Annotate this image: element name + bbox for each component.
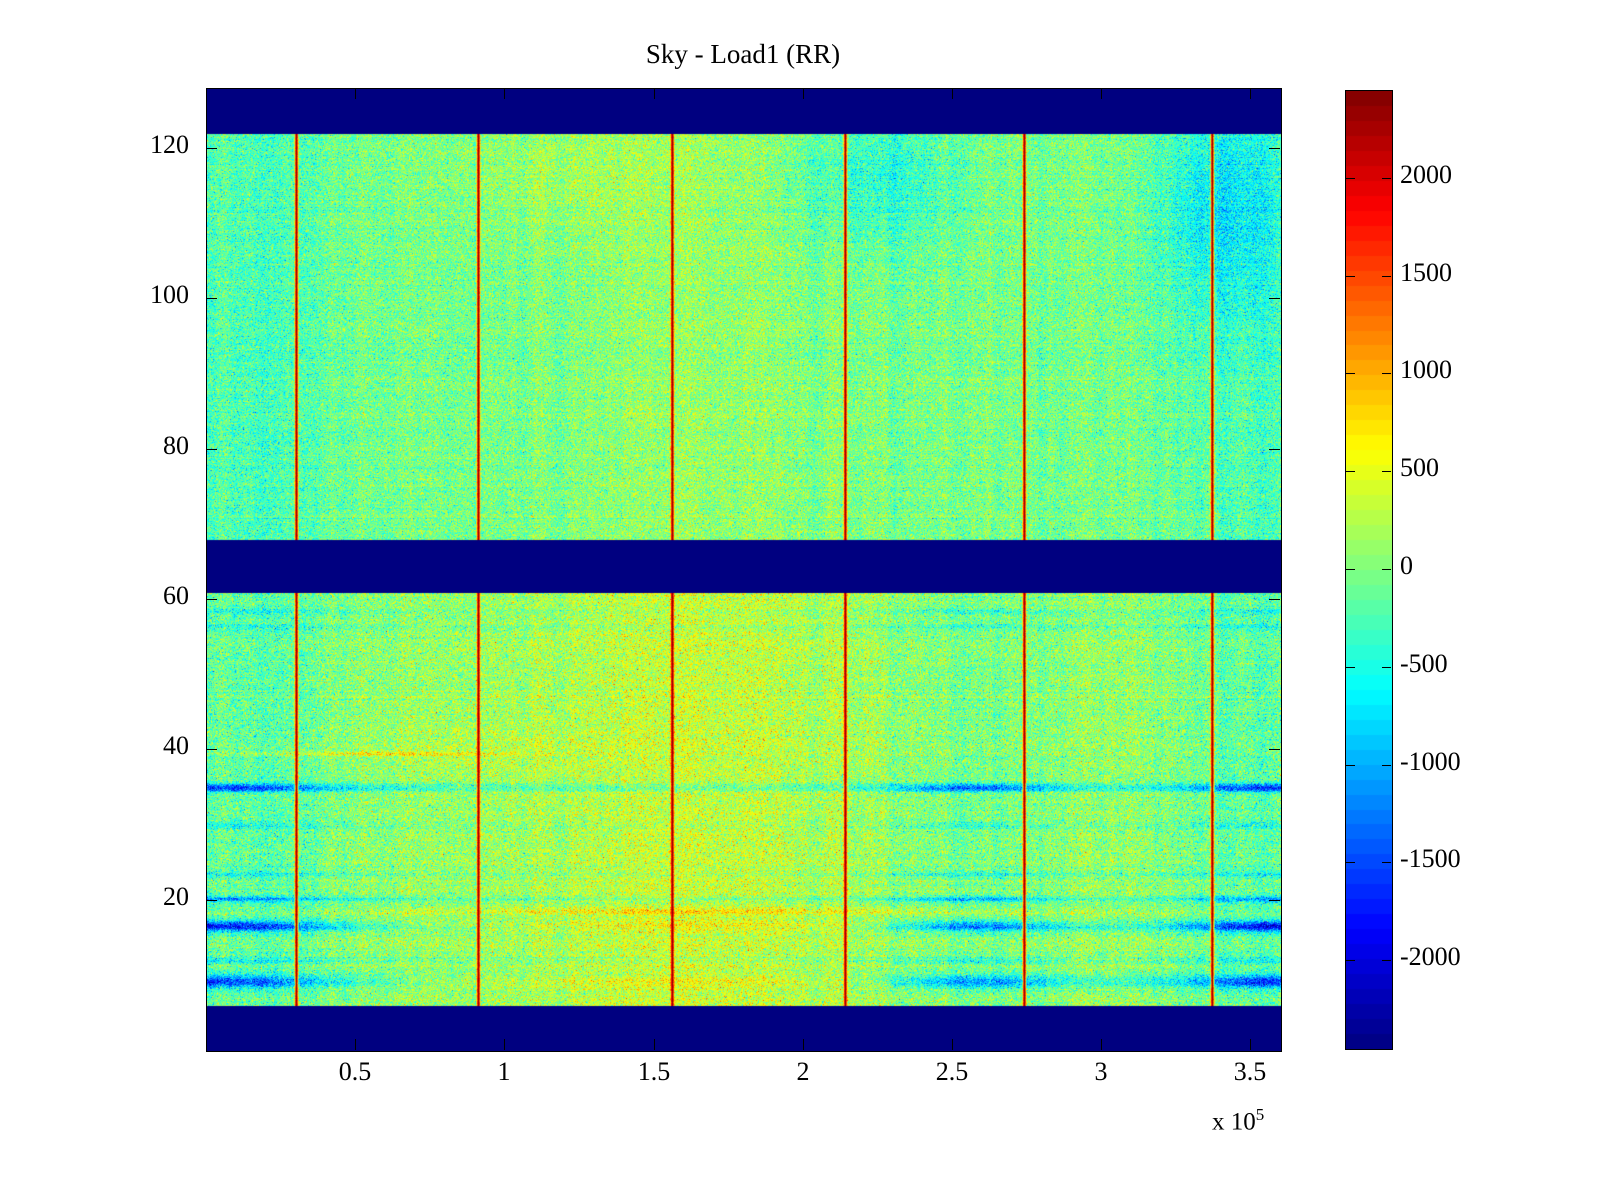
y-tick-mark	[206, 298, 217, 299]
y-tick-mark	[206, 900, 217, 901]
x-tick-label: 3.5	[1234, 1057, 1267, 1087]
colorbar-tick-mark-right	[1382, 373, 1391, 374]
colorbar-tick-label: -2000	[1400, 942, 1461, 972]
colorbar-tick-label: -500	[1400, 649, 1448, 679]
y-tick-mark-right	[1269, 148, 1280, 149]
heatmap-image	[207, 89, 1281, 1051]
y-tick-mark-right	[1269, 298, 1280, 299]
y-tick-label: 20	[163, 882, 189, 912]
colorbar-tick-mark	[1346, 373, 1355, 374]
colorbar-tick-mark-right	[1382, 960, 1391, 961]
x-tick-mark-top	[952, 88, 953, 99]
colorbar-tick-mark	[1346, 960, 1355, 961]
x-tick-mark-top	[803, 88, 804, 99]
y-tick-mark-right	[1269, 749, 1280, 750]
x-exponent-mantissa: x 10	[1212, 1108, 1256, 1135]
colorbar-tick-mark-right	[1382, 276, 1391, 277]
x-exponent-power: 5	[1256, 1105, 1265, 1124]
y-tick-mark-right	[1269, 599, 1280, 600]
x-tick-label: 1	[498, 1057, 511, 1087]
y-tick-label: 80	[163, 431, 189, 461]
x-tick-mark-top	[1250, 88, 1251, 99]
y-tick-mark	[206, 599, 217, 600]
x-tick-mark-top	[504, 88, 505, 99]
y-tick-mark	[206, 148, 217, 149]
colorbar-tick-mark-right	[1382, 862, 1391, 863]
x-tick-mark-top	[355, 88, 356, 99]
x-axis-exponent-label: x 105	[1212, 1105, 1264, 1136]
heatmap-axes[interactable]	[206, 88, 1282, 1052]
colorbar[interactable]	[1345, 90, 1393, 1050]
y-tick-mark	[206, 749, 217, 750]
x-tick-mark	[1101, 1039, 1102, 1050]
x-tick-label: 2.5	[936, 1057, 969, 1087]
colorbar-tick-label: 0	[1400, 551, 1413, 581]
x-tick-mark	[355, 1039, 356, 1050]
colorbar-tick-mark-right	[1382, 471, 1391, 472]
x-tick-mark	[654, 1039, 655, 1050]
y-tick-mark	[206, 449, 217, 450]
y-tick-label: 100	[150, 280, 189, 310]
colorbar-tick-label: 2000	[1400, 160, 1452, 190]
x-tick-mark-top	[1101, 88, 1102, 99]
x-tick-mark	[504, 1039, 505, 1050]
colorbar-tick-mark	[1346, 862, 1355, 863]
y-tick-label: 120	[150, 130, 189, 160]
colorbar-tick-mark-right	[1382, 765, 1391, 766]
colorbar-tick-label: 1500	[1400, 258, 1452, 288]
x-tick-label: 3	[1095, 1057, 1108, 1087]
colorbar-tick-mark-right	[1382, 569, 1391, 570]
colorbar-tick-label: 500	[1400, 453, 1439, 483]
colorbar-tick-label: -1500	[1400, 844, 1461, 874]
colorbar-tick-mark	[1346, 471, 1355, 472]
colorbar-tick-mark-right	[1382, 667, 1391, 668]
y-tick-mark-right	[1269, 900, 1280, 901]
x-tick-label: 2	[797, 1057, 810, 1087]
page-title: Sky - Load1 (RR)	[206, 40, 1280, 70]
matlab-figure: Sky - Load1 (RR) x 105 204060801001200.5…	[0, 0, 1600, 1200]
colorbar-tick-label: 1000	[1400, 355, 1452, 385]
colorbar-tick-label: -1000	[1400, 747, 1461, 777]
y-tick-mark-right	[1269, 449, 1280, 450]
x-tick-mark	[952, 1039, 953, 1050]
x-tick-label: 1.5	[638, 1057, 671, 1087]
x-tick-mark	[803, 1039, 804, 1050]
colorbar-gradient	[1346, 91, 1392, 1049]
y-tick-label: 40	[163, 731, 189, 761]
colorbar-tick-mark	[1346, 276, 1355, 277]
x-tick-mark-top	[654, 88, 655, 99]
y-tick-label: 60	[163, 581, 189, 611]
x-tick-mark	[1250, 1039, 1251, 1050]
colorbar-tick-mark	[1346, 178, 1355, 179]
colorbar-tick-mark	[1346, 765, 1355, 766]
colorbar-tick-mark	[1346, 569, 1355, 570]
colorbar-tick-mark-right	[1382, 178, 1391, 179]
x-tick-label: 0.5	[339, 1057, 372, 1087]
colorbar-tick-mark	[1346, 667, 1355, 668]
